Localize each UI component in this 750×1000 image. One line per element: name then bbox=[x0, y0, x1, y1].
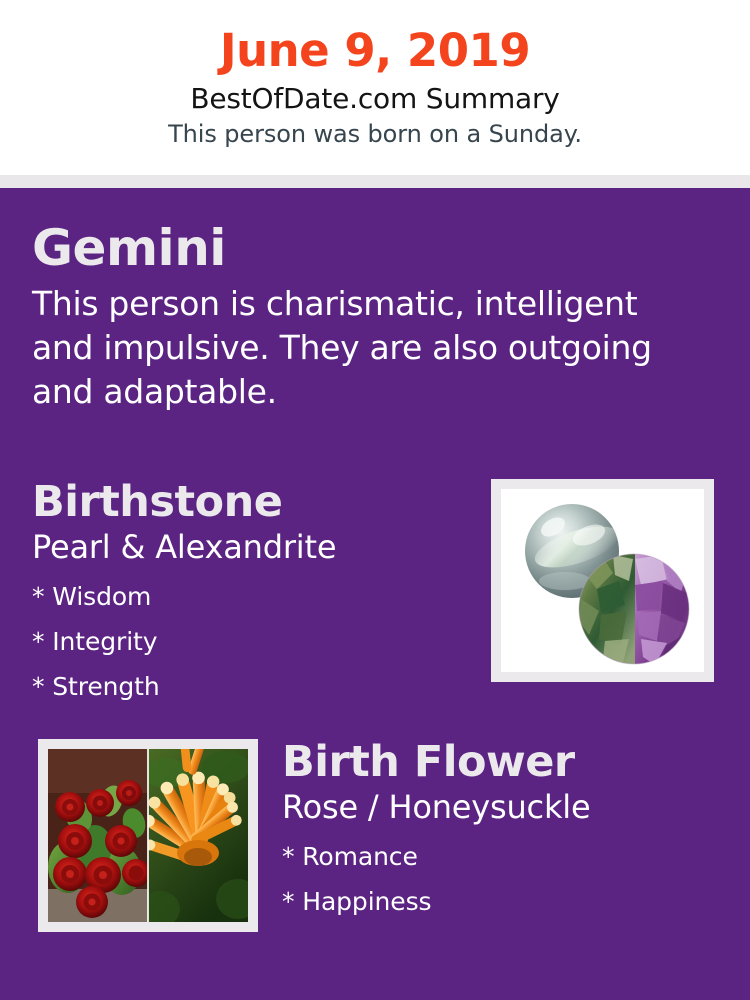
details-panel: Gemini This person is charismatic, intel… bbox=[0, 188, 750, 1000]
date-summary-card: June 9, 2019 BestOfDate.com Summary This… bbox=[0, 0, 750, 1000]
list-item: * Strength bbox=[32, 664, 472, 709]
birth-flower-image bbox=[38, 739, 258, 932]
birth-flower-image-inner bbox=[48, 749, 248, 922]
list-item: * Romance bbox=[282, 834, 722, 879]
birth-flower-names: Rose / Honeysuckle bbox=[282, 786, 722, 828]
list-item: * Happiness bbox=[282, 879, 722, 924]
page-title: June 9, 2019 bbox=[0, 22, 750, 80]
zodiac-sign-name: Gemini bbox=[32, 218, 702, 278]
birthstone-names: Pearl & Alexandrite bbox=[32, 526, 472, 568]
pearl-and-alexandrite-graphic bbox=[501, 489, 704, 672]
zodiac-description: This person is charismatic, intelligent … bbox=[32, 282, 702, 414]
list-item: * Integrity bbox=[32, 619, 472, 664]
birth-flower-section: Birth Flower Rose / Honeysuckle * Romanc… bbox=[282, 736, 722, 924]
list-item: * Wisdom bbox=[32, 574, 472, 619]
birthstone-heading: Birthstone bbox=[32, 476, 472, 528]
birthstone-section: Birthstone Pearl & Alexandrite * Wisdom … bbox=[32, 476, 472, 709]
birthstone-trait-list: * Wisdom * Integrity * Strength bbox=[32, 574, 472, 709]
born-day-text: This person was born on a Sunday. bbox=[0, 118, 750, 150]
birth-flower-heading: Birth Flower bbox=[282, 736, 722, 788]
header-divider bbox=[0, 175, 750, 188]
roses-and-honeysuckle-graphic bbox=[48, 749, 248, 922]
site-summary-label: BestOfDate.com Summary bbox=[0, 80, 750, 118]
zodiac-section: Gemini This person is charismatic, intel… bbox=[32, 218, 702, 414]
card-header: June 9, 2019 BestOfDate.com Summary This… bbox=[0, 0, 750, 175]
birthstone-image bbox=[491, 479, 714, 682]
birthstone-image-inner bbox=[501, 489, 704, 672]
birth-flower-trait-list: * Romance * Happiness bbox=[282, 834, 722, 924]
